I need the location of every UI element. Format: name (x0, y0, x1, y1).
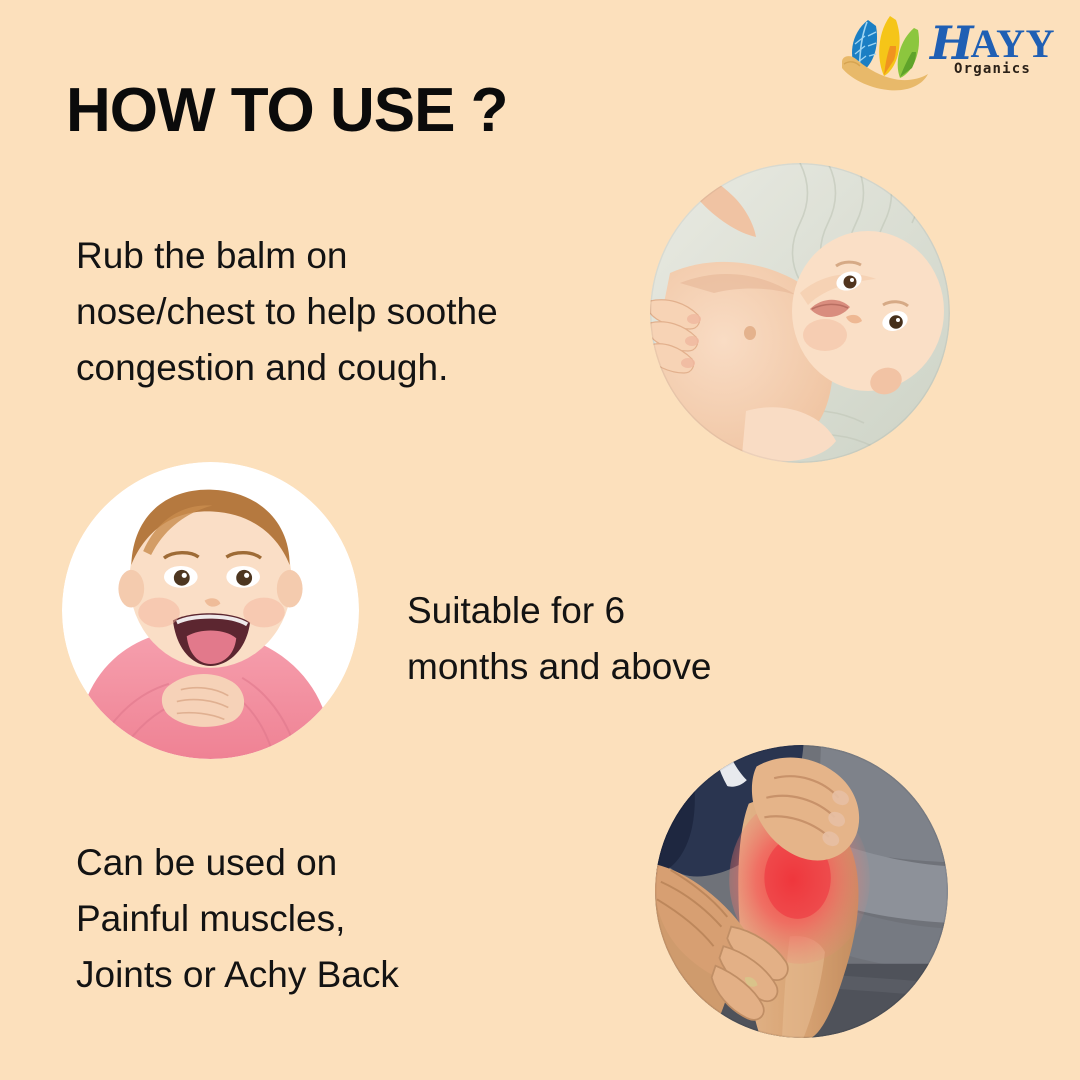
brand-logo: HAYY Organics (838, 10, 1048, 96)
step-pain-relief-text: Can be used on Painful muscles, Joints o… (76, 835, 516, 1004)
brand-name: HAYY (930, 18, 1055, 64)
knee-pain-photo (655, 745, 948, 1038)
poster-canvas: HAYY Organics HOW TO USE ? Rub the balm … (0, 0, 1080, 1080)
brand-name-rest: AYY (970, 21, 1055, 66)
page-title: HOW TO USE ? (66, 78, 508, 143)
brand-wordmark: HAYY Organics (930, 18, 1048, 88)
happy-baby-photo (62, 462, 359, 759)
step-age-suitability-text: Suitable for 6 months and above (407, 583, 807, 695)
baby-chest-massage-photo (650, 163, 950, 463)
step-rub-balm-text: Rub the balm on nose/chest to help sooth… (76, 228, 616, 397)
leaf-hand-logo-icon (838, 12, 934, 92)
brand-tagline: Organics (954, 62, 1031, 76)
